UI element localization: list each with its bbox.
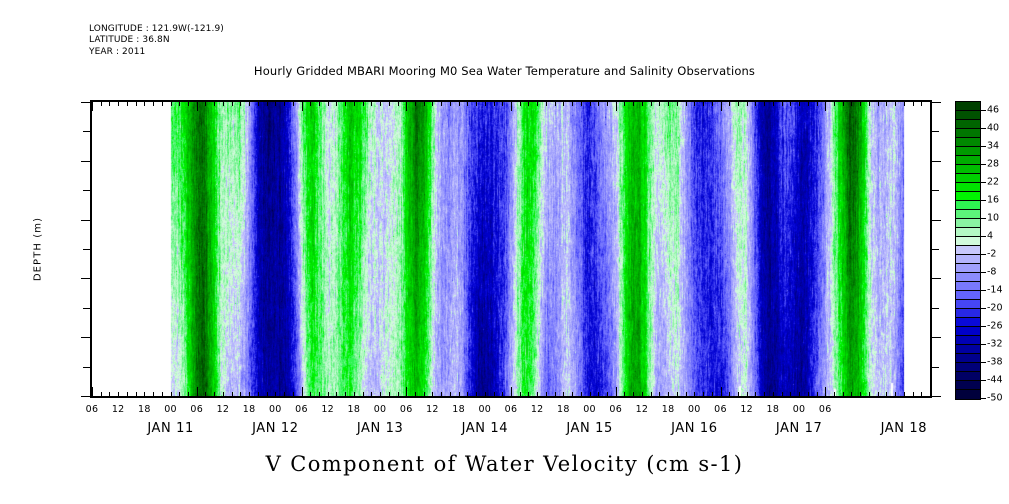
y-tick-right bbox=[932, 102, 941, 103]
y-tick-right bbox=[932, 190, 939, 191]
x-tick-top bbox=[127, 100, 128, 106]
x-tick-top bbox=[677, 100, 678, 106]
colorbar-swatch bbox=[956, 192, 980, 201]
x-tick-bottom bbox=[921, 392, 922, 398]
x-tick-top bbox=[284, 100, 285, 106]
x-axis-day-label: JAN 14 bbox=[462, 421, 509, 436]
x-tick-top bbox=[537, 100, 538, 106]
y-tick-left bbox=[81, 337, 90, 338]
colorbar-tick bbox=[981, 146, 986, 147]
x-axis-hour-label: 12 bbox=[426, 404, 439, 415]
colorbar-swatch bbox=[956, 390, 980, 399]
colorbar-swatch bbox=[956, 273, 980, 282]
colorbar-tick-label: -2 bbox=[987, 249, 996, 260]
x-tick-top bbox=[755, 100, 756, 106]
x-tick-top bbox=[747, 100, 748, 106]
x-axis-hour-label: 12 bbox=[740, 404, 753, 415]
x-tick-bottom bbox=[232, 392, 233, 398]
colorbar-tick-label: -44 bbox=[987, 375, 1003, 386]
x-tick-top bbox=[712, 100, 713, 106]
x-axis-hour-label: 12 bbox=[321, 404, 334, 415]
x-axis-hour-label: 00 bbox=[688, 404, 701, 415]
x-tick-top bbox=[380, 100, 381, 106]
x-tick-bottom bbox=[520, 392, 521, 398]
x-axis-hour-label: 18 bbox=[243, 404, 256, 415]
colorbar-swatch bbox=[956, 102, 980, 111]
x-tick-top bbox=[555, 100, 556, 106]
x-tick-top bbox=[92, 100, 93, 111]
x-tick-bottom bbox=[677, 392, 678, 398]
x-tick-bottom bbox=[834, 392, 835, 398]
y-tick-left bbox=[83, 308, 90, 309]
colorbar-tick bbox=[981, 308, 986, 309]
x-tick-bottom bbox=[764, 392, 765, 398]
x-tick-top bbox=[319, 100, 320, 106]
colorbar-swatch bbox=[956, 228, 980, 237]
x-tick-bottom bbox=[563, 392, 564, 398]
x-tick-bottom bbox=[721, 387, 722, 398]
x-tick-top bbox=[502, 100, 503, 106]
x-axis-day-label: JAN 16 bbox=[671, 421, 718, 436]
x-tick-bottom bbox=[869, 392, 870, 398]
x-axis-day-label: JAN 17 bbox=[776, 421, 823, 436]
x-tick-bottom bbox=[406, 387, 407, 398]
x-tick-top bbox=[179, 100, 180, 106]
y-tick-left bbox=[83, 367, 90, 368]
colorbar-tick bbox=[981, 362, 986, 363]
x-tick-top bbox=[223, 100, 224, 106]
x-tick-top bbox=[232, 100, 233, 106]
x-tick-bottom bbox=[371, 392, 372, 398]
x-tick-bottom bbox=[633, 392, 634, 398]
x-tick-bottom bbox=[581, 392, 582, 398]
x-tick-bottom bbox=[459, 392, 460, 398]
x-tick-bottom bbox=[913, 392, 914, 398]
x-axis-hour-label: 06 bbox=[190, 404, 203, 415]
colorbar-swatch bbox=[956, 327, 980, 336]
x-tick-top bbox=[109, 100, 110, 106]
x-tick-top bbox=[336, 100, 337, 106]
x-tick-bottom bbox=[310, 392, 311, 398]
x-tick-bottom bbox=[162, 392, 163, 398]
y-tick-right bbox=[932, 278, 941, 279]
x-tick-bottom bbox=[904, 392, 905, 398]
colorbar-tick-label: 10 bbox=[987, 213, 999, 224]
colorbar-swatch bbox=[956, 381, 980, 390]
x-tick-top bbox=[511, 100, 512, 111]
colorbar-swatch bbox=[956, 255, 980, 264]
x-tick-bottom bbox=[467, 392, 468, 398]
x-tick-top bbox=[441, 100, 442, 106]
x-tick-bottom bbox=[432, 392, 433, 398]
x-tick-top bbox=[328, 100, 329, 106]
x-tick-bottom bbox=[398, 392, 399, 398]
x-tick-top bbox=[598, 100, 599, 106]
x-tick-bottom bbox=[843, 392, 844, 398]
colorbar-swatch bbox=[956, 174, 980, 183]
x-tick-bottom bbox=[197, 387, 198, 398]
x-tick-top bbox=[275, 100, 276, 106]
colorbar-tick bbox=[981, 218, 986, 219]
x-tick-bottom bbox=[729, 392, 730, 398]
x-tick-top bbox=[834, 100, 835, 106]
x-axis-hour-label: 18 bbox=[557, 404, 570, 415]
x-tick-top bbox=[389, 100, 390, 106]
x-tick-bottom bbox=[651, 392, 652, 398]
x-axis-day-label: JAN 11 bbox=[147, 421, 194, 436]
colorbar-tick bbox=[981, 254, 986, 255]
x-tick-top bbox=[825, 100, 826, 111]
x-tick-top bbox=[686, 100, 687, 106]
y-tick-left bbox=[81, 396, 90, 397]
x-tick-bottom bbox=[144, 392, 145, 398]
x-tick-top bbox=[913, 100, 914, 106]
colorbar-tick-label: 40 bbox=[987, 123, 999, 134]
colorbar-tick-label: -50 bbox=[987, 393, 1003, 404]
x-tick-bottom bbox=[747, 392, 748, 398]
colorbar-swatch bbox=[956, 291, 980, 300]
x-tick-top bbox=[424, 100, 425, 106]
colorbar-tick-label: -32 bbox=[987, 339, 1003, 350]
x-tick-bottom bbox=[284, 392, 285, 398]
x-axis-hour-label: 06 bbox=[295, 404, 308, 415]
x-tick-bottom bbox=[502, 392, 503, 398]
colorbar-tick-label: -38 bbox=[987, 357, 1003, 368]
x-tick-bottom bbox=[590, 392, 591, 398]
colorbar-swatch bbox=[956, 129, 980, 138]
colorbar-tick bbox=[981, 272, 986, 273]
colorbar-swatch bbox=[956, 156, 980, 165]
x-axis-hour-label: 18 bbox=[767, 404, 780, 415]
x-tick-top bbox=[293, 100, 294, 106]
x-tick-top bbox=[302, 100, 303, 111]
x-tick-top bbox=[101, 100, 102, 106]
x-tick-bottom bbox=[851, 392, 852, 398]
x-tick-bottom bbox=[179, 392, 180, 398]
x-tick-bottom bbox=[267, 392, 268, 398]
x-tick-top bbox=[310, 100, 311, 106]
x-axis-hour-label: 00 bbox=[478, 404, 491, 415]
x-tick-top bbox=[921, 100, 922, 106]
colorbar-swatch bbox=[956, 336, 980, 345]
x-tick-bottom bbox=[450, 392, 451, 398]
chart-caption: V Component of Water Velocity (cm s-1) bbox=[0, 452, 1009, 476]
x-tick-top bbox=[633, 100, 634, 106]
x-tick-top bbox=[214, 100, 215, 106]
x-tick-top bbox=[520, 100, 521, 106]
y-tick-left bbox=[81, 278, 90, 279]
x-tick-bottom bbox=[555, 392, 556, 398]
x-tick-bottom bbox=[240, 392, 241, 398]
y-tick-right bbox=[932, 220, 941, 221]
x-tick-top bbox=[546, 100, 547, 106]
colorbar-tick-label: -20 bbox=[987, 303, 1003, 314]
x-tick-top bbox=[240, 100, 241, 106]
x-tick-top bbox=[878, 100, 879, 106]
x-tick-top bbox=[354, 100, 355, 106]
colorbar-swatch bbox=[956, 147, 980, 156]
x-tick-top bbox=[528, 100, 529, 106]
x-tick-bottom bbox=[101, 392, 102, 398]
y-tick-right bbox=[932, 367, 939, 368]
x-tick-top bbox=[432, 100, 433, 106]
x-axis-hour-label: 18 bbox=[348, 404, 361, 415]
x-tick-bottom bbox=[92, 387, 93, 398]
x-axis-hour-label: 06 bbox=[609, 404, 622, 415]
x-tick-bottom bbox=[712, 392, 713, 398]
x-tick-top bbox=[406, 100, 407, 111]
x-tick-top bbox=[782, 100, 783, 106]
x-tick-top bbox=[162, 100, 163, 106]
x-tick-top bbox=[467, 100, 468, 106]
x-tick-bottom bbox=[223, 392, 224, 398]
x-tick-top bbox=[450, 100, 451, 106]
colorbar-swatch bbox=[956, 111, 980, 120]
x-axis-hour-label: 18 bbox=[662, 404, 675, 415]
colorbar-tick-label: 4 bbox=[987, 231, 993, 242]
colorbar-tick-label: 22 bbox=[987, 177, 999, 188]
x-tick-bottom bbox=[354, 392, 355, 398]
x-tick-bottom bbox=[118, 392, 119, 398]
x-axis-day-label: JAN 13 bbox=[357, 421, 404, 436]
x-tick-top bbox=[616, 100, 617, 111]
x-tick-top bbox=[581, 100, 582, 106]
x-tick-bottom bbox=[782, 392, 783, 398]
x-tick-bottom bbox=[668, 392, 669, 398]
x-tick-top bbox=[494, 100, 495, 106]
colorbar-tick bbox=[981, 290, 986, 291]
x-tick-bottom bbox=[328, 392, 329, 398]
x-tick-top bbox=[808, 100, 809, 106]
y-tick-right bbox=[932, 161, 941, 162]
x-tick-top bbox=[197, 100, 198, 111]
x-tick-bottom bbox=[336, 392, 337, 398]
page-title: Hourly Gridded MBARI Mooring M0 Sea Wate… bbox=[0, 64, 1009, 78]
x-axis-day-label: JAN 18 bbox=[881, 421, 928, 436]
colorbar-tick bbox=[981, 326, 986, 327]
latitude-text: LATITUDE : 36.8N bbox=[89, 35, 224, 46]
x-tick-top bbox=[267, 100, 268, 106]
x-tick-bottom bbox=[694, 392, 695, 398]
x-tick-top bbox=[651, 100, 652, 106]
heatmap-canvas bbox=[92, 102, 930, 396]
x-tick-bottom bbox=[136, 392, 137, 398]
x-axis-day-label: JAN 15 bbox=[566, 421, 613, 436]
x-tick-top bbox=[590, 100, 591, 106]
x-tick-top bbox=[721, 100, 722, 111]
x-tick-bottom bbox=[214, 392, 215, 398]
station-metadata: LONGITUDE : 121.9W(-121.9) LATITUDE : 36… bbox=[89, 24, 224, 58]
longitude-text: LONGITUDE : 121.9W(-121.9) bbox=[89, 24, 224, 35]
y-tick-right bbox=[932, 308, 939, 309]
x-tick-bottom bbox=[607, 392, 608, 398]
x-tick-top bbox=[144, 100, 145, 106]
x-tick-top bbox=[363, 100, 364, 106]
colorbar-tick bbox=[981, 398, 986, 399]
x-tick-bottom bbox=[878, 392, 879, 398]
x-tick-top bbox=[153, 100, 154, 106]
x-tick-bottom bbox=[476, 392, 477, 398]
x-tick-top bbox=[624, 100, 625, 106]
x-tick-top bbox=[738, 100, 739, 106]
x-tick-bottom bbox=[258, 392, 259, 398]
x-tick-bottom bbox=[153, 392, 154, 398]
x-tick-top bbox=[764, 100, 765, 106]
x-tick-bottom bbox=[319, 392, 320, 398]
x-tick-bottom bbox=[817, 392, 818, 398]
x-tick-top bbox=[851, 100, 852, 106]
colorbar-tick-label: 46 bbox=[987, 105, 999, 116]
x-tick-top bbox=[563, 100, 564, 106]
colorbar-tick bbox=[981, 380, 986, 381]
x-tick-bottom bbox=[773, 392, 774, 398]
x-tick-top bbox=[694, 100, 695, 106]
y-tick-left bbox=[81, 161, 90, 162]
x-tick-top bbox=[860, 100, 861, 106]
x-tick-bottom bbox=[171, 392, 172, 398]
colorbar-tick bbox=[981, 200, 986, 201]
y-tick-right bbox=[932, 337, 941, 338]
x-tick-top bbox=[371, 100, 372, 106]
heatmap-plot-area bbox=[90, 100, 932, 398]
x-tick-bottom bbox=[808, 392, 809, 398]
y-tick-left bbox=[83, 190, 90, 191]
x-axis-day-label: JAN 12 bbox=[252, 421, 299, 436]
x-tick-bottom bbox=[572, 392, 573, 398]
colorbar-tick bbox=[981, 128, 986, 129]
x-tick-top bbox=[485, 100, 486, 106]
x-tick-bottom bbox=[616, 387, 617, 398]
x-tick-bottom bbox=[249, 392, 250, 398]
x-axis-hour-label: 06 bbox=[819, 404, 832, 415]
colorbar-swatch bbox=[956, 201, 980, 210]
x-tick-bottom bbox=[109, 392, 110, 398]
x-tick-bottom bbox=[930, 387, 931, 398]
colorbar-tick-label: -26 bbox=[987, 321, 1003, 332]
colorbar-tick-label: -8 bbox=[987, 267, 996, 278]
x-tick-top bbox=[895, 100, 896, 106]
x-tick-top bbox=[642, 100, 643, 106]
x-tick-bottom bbox=[302, 387, 303, 398]
colorbar-swatch bbox=[956, 219, 980, 228]
colorbar-swatch bbox=[956, 237, 980, 246]
y-tick-left bbox=[83, 131, 90, 132]
y-tick-left bbox=[81, 102, 90, 103]
x-tick-bottom bbox=[127, 392, 128, 398]
x-tick-top bbox=[171, 100, 172, 106]
x-tick-bottom bbox=[528, 392, 529, 398]
x-tick-top bbox=[205, 100, 206, 106]
x-tick-top bbox=[668, 100, 669, 106]
x-tick-bottom bbox=[703, 392, 704, 398]
colorbar-swatch bbox=[956, 138, 980, 147]
x-axis-hour-label: 06 bbox=[505, 404, 518, 415]
x-tick-bottom bbox=[511, 387, 512, 398]
x-tick-bottom bbox=[415, 392, 416, 398]
colorbar-swatch bbox=[956, 345, 980, 354]
x-tick-bottom bbox=[363, 392, 364, 398]
y-tick-left bbox=[83, 249, 90, 250]
x-tick-bottom bbox=[485, 392, 486, 398]
x-tick-bottom bbox=[494, 392, 495, 398]
x-tick-top bbox=[869, 100, 870, 106]
colorbar-swatch bbox=[956, 282, 980, 291]
x-tick-bottom bbox=[380, 392, 381, 398]
colorbar-tick-label: 16 bbox=[987, 195, 999, 206]
colorbar-tick bbox=[981, 182, 986, 183]
x-tick-top bbox=[476, 100, 477, 106]
x-tick-top bbox=[817, 100, 818, 106]
y-tick-right bbox=[932, 249, 939, 250]
colorbar bbox=[955, 101, 981, 400]
x-tick-bottom bbox=[799, 392, 800, 398]
x-axis-hour-label: 00 bbox=[374, 404, 387, 415]
x-tick-top bbox=[904, 100, 905, 106]
x-tick-bottom bbox=[546, 392, 547, 398]
colorbar-swatch bbox=[956, 300, 980, 309]
x-axis-hour-label: 18 bbox=[452, 404, 465, 415]
x-tick-top bbox=[415, 100, 416, 106]
x-axis-hour-label: 12 bbox=[112, 404, 125, 415]
colorbar-swatch bbox=[956, 210, 980, 219]
x-tick-top bbox=[249, 100, 250, 106]
colorbar-tick bbox=[981, 236, 986, 237]
x-tick-bottom bbox=[293, 392, 294, 398]
x-tick-top bbox=[398, 100, 399, 106]
colorbar-swatch bbox=[956, 363, 980, 372]
x-tick-bottom bbox=[205, 392, 206, 398]
x-tick-top bbox=[572, 100, 573, 106]
colorbar-swatch bbox=[956, 318, 980, 327]
colorbar-tick bbox=[981, 164, 986, 165]
colorbar-swatch bbox=[956, 183, 980, 192]
x-tick-bottom bbox=[659, 392, 660, 398]
x-tick-bottom bbox=[275, 392, 276, 398]
x-tick-bottom bbox=[738, 392, 739, 398]
x-axis-hour-label: 06 bbox=[400, 404, 413, 415]
x-tick-top bbox=[607, 100, 608, 106]
x-tick-bottom bbox=[598, 392, 599, 398]
x-tick-top bbox=[659, 100, 660, 106]
x-tick-bottom bbox=[389, 392, 390, 398]
x-tick-bottom bbox=[537, 392, 538, 398]
x-axis-hour-label: 18 bbox=[138, 404, 151, 415]
x-tick-bottom bbox=[624, 392, 625, 398]
x-tick-bottom bbox=[441, 392, 442, 398]
colorbar-tick-label: 28 bbox=[987, 159, 999, 170]
x-tick-top bbox=[773, 100, 774, 106]
y-tick-right bbox=[932, 131, 939, 132]
colorbar-swatch bbox=[956, 120, 980, 129]
x-tick-bottom bbox=[755, 392, 756, 398]
colorbar-swatch bbox=[956, 264, 980, 273]
x-tick-top bbox=[799, 100, 800, 106]
x-tick-top bbox=[258, 100, 259, 106]
x-tick-bottom bbox=[345, 392, 346, 398]
x-tick-bottom bbox=[860, 392, 861, 398]
x-tick-top bbox=[886, 100, 887, 106]
year-text: YEAR : 2011 bbox=[89, 47, 224, 58]
x-axis-hour-label: 12 bbox=[531, 404, 544, 415]
y-axis-title: DEPTH (m) bbox=[33, 217, 44, 281]
x-tick-bottom bbox=[686, 392, 687, 398]
colorbar-swatch bbox=[956, 372, 980, 381]
x-tick-top bbox=[843, 100, 844, 106]
x-axis-hour-label: 00 bbox=[793, 404, 806, 415]
colorbar-swatch bbox=[956, 165, 980, 174]
x-tick-top bbox=[930, 100, 931, 111]
x-axis-hour-label: 00 bbox=[269, 404, 282, 415]
